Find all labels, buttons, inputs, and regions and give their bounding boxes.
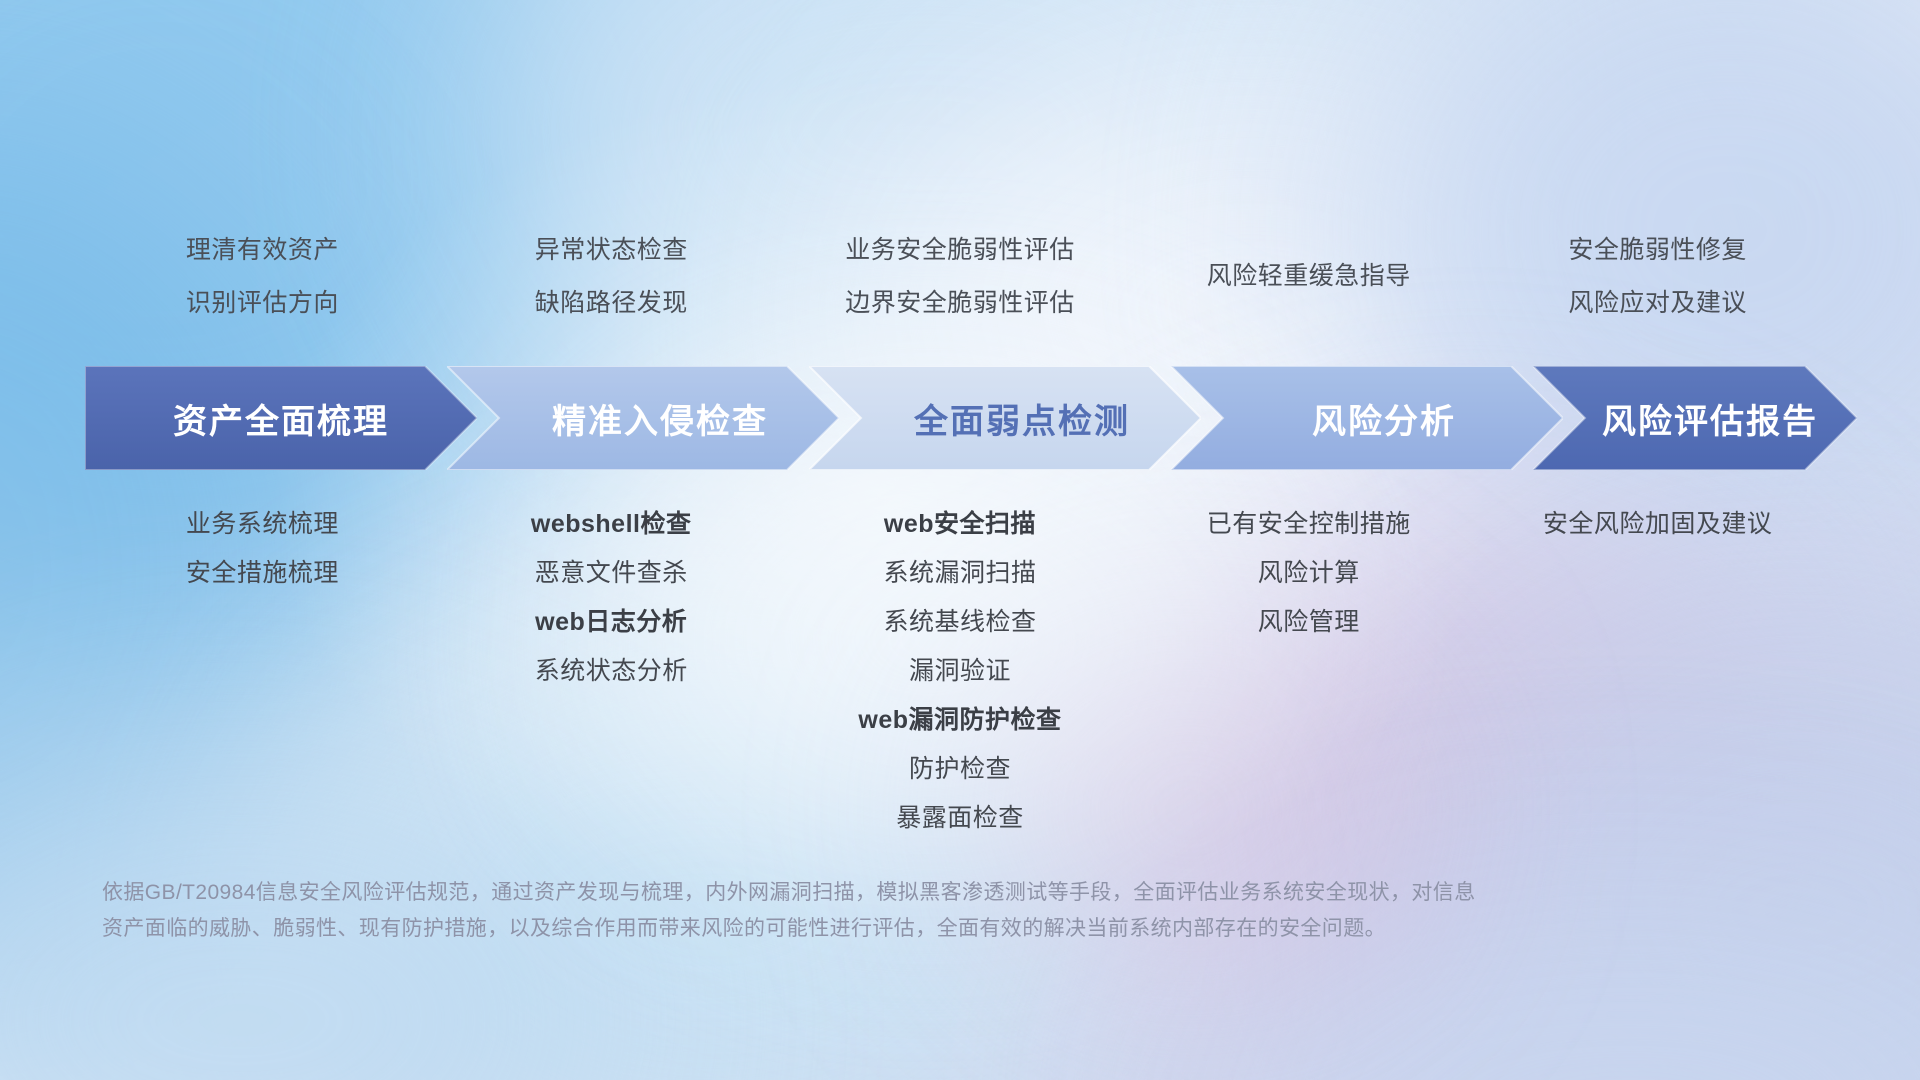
bottom-column-assessment-report: 安全风险加固及建议 bbox=[1483, 512, 1832, 561]
chevron-stage-weakness-detection[interactable]: 全面弱点检测 bbox=[809, 366, 1201, 470]
chevron-label: 风险评估报告 bbox=[1602, 394, 1818, 443]
bottom-item: 恶意文件查杀 bbox=[535, 561, 688, 586]
bottom-item: 风险管理 bbox=[1258, 610, 1360, 635]
chevron-label: 资产全面梳理 bbox=[173, 394, 389, 443]
bottom-item: web安全扫描 bbox=[884, 512, 1036, 537]
bottom-item: 系统基线检查 bbox=[883, 610, 1036, 635]
top-column-assessment-report: 安全脆弱性修复 风险应对及建议 bbox=[1483, 238, 1832, 344]
top-item: 理清有效资产 bbox=[186, 238, 339, 263]
chevron-label: 全面弱点检测 bbox=[914, 394, 1130, 443]
bottom-item: 业务系统梳理 bbox=[186, 512, 339, 537]
bottom-item: 安全风险加固及建议 bbox=[1543, 512, 1773, 537]
top-item: 风险应对及建议 bbox=[1568, 291, 1747, 316]
chevron-label: 精准入侵检查 bbox=[552, 394, 768, 443]
bottom-column-weakness-detection: web安全扫描 系统漏洞扫描 系统基线检查 漏洞验证 web漏洞防护检查 防护检… bbox=[786, 512, 1135, 855]
top-item: 风险轻重缓急指导 bbox=[1207, 264, 1411, 289]
top-item: 安全脆弱性修复 bbox=[1568, 238, 1747, 263]
top-column-asset-inventory: 理清有效资产 识别评估方向 bbox=[88, 238, 437, 344]
footer-description: 依据GB/T20984信息安全风险评估规范，通过资产发现与梳理，内外网漏洞扫描，… bbox=[102, 875, 1662, 947]
top-item: 识别评估方向 bbox=[186, 291, 339, 316]
top-column-intrusion-check: 异常状态检查 缺陷路径发现 bbox=[437, 238, 786, 344]
bottom-column-asset-inventory: 业务系统梳理 安全措施梳理 bbox=[88, 512, 437, 610]
top-column-risk-analysis: 风险轻重缓急指导 bbox=[1134, 238, 1483, 317]
bottom-item: webshell检查 bbox=[531, 512, 692, 537]
chevron-stage-risk-analysis[interactable]: 风险分析 bbox=[1171, 366, 1563, 470]
bottom-column-risk-analysis: 已有安全控制措施 风险计算 风险管理 bbox=[1134, 512, 1483, 659]
chevron-stage-asset-inventory[interactable]: 资产全面梳理 bbox=[85, 366, 477, 470]
bottom-item: 系统漏洞扫描 bbox=[883, 561, 1036, 586]
top-item: 异常状态检查 bbox=[535, 238, 688, 263]
chevron-stage-assessment-report[interactable]: 风险评估报告 bbox=[1533, 366, 1857, 470]
bottom-item: 暴露面检查 bbox=[896, 806, 1024, 831]
bottom-column-intrusion-check: webshell检查 恶意文件查杀 web日志分析 系统状态分析 bbox=[437, 512, 786, 708]
bottom-item: web漏洞防护检查 bbox=[858, 708, 1061, 733]
process-chevron-banner: 资产全面梳理 精准入侵检查 bbox=[85, 366, 1857, 470]
bottom-item: 已有安全控制措施 bbox=[1207, 512, 1411, 537]
chevron-label: 风险分析 bbox=[1312, 394, 1456, 443]
footer-line-1: 依据GB/T20984信息安全风险评估规范，通过资产发现与梳理，内外网漏洞扫描，… bbox=[102, 875, 1662, 911]
top-item: 业务安全脆弱性评估 bbox=[845, 238, 1075, 263]
bottom-item: web日志分析 bbox=[535, 610, 687, 635]
bottom-item: 系统状态分析 bbox=[535, 659, 688, 684]
footer-line-2: 资产面临的威胁、脆弱性、现有防护措施，以及综合作用而带来风险的可能性进行评估，全… bbox=[102, 911, 1662, 947]
chevron-stage-intrusion-check[interactable]: 精准入侵检查 bbox=[447, 366, 839, 470]
bottom-item: 安全措施梳理 bbox=[186, 561, 339, 586]
bottom-activity-row: 业务系统梳理 安全措施梳理 webshell检查 恶意文件查杀 web日志分析 … bbox=[0, 512, 1920, 855]
top-outcome-row: 理清有效资产 识别评估方向 异常状态检查 缺陷路径发现 业务安全脆弱性评估 边界… bbox=[0, 238, 1920, 344]
bottom-item: 防护检查 bbox=[909, 757, 1011, 782]
top-item: 缺陷路径发现 bbox=[535, 291, 688, 316]
bottom-item: 漏洞验证 bbox=[909, 659, 1011, 684]
diagram-stage: 理清有效资产 识别评估方向 异常状态检查 缺陷路径发现 业务安全脆弱性评估 边界… bbox=[0, 0, 1920, 1080]
bottom-item: 风险计算 bbox=[1258, 561, 1360, 586]
top-column-weakness-detection: 业务安全脆弱性评估 边界安全脆弱性评估 bbox=[786, 238, 1135, 344]
top-item: 边界安全脆弱性评估 bbox=[845, 291, 1075, 316]
